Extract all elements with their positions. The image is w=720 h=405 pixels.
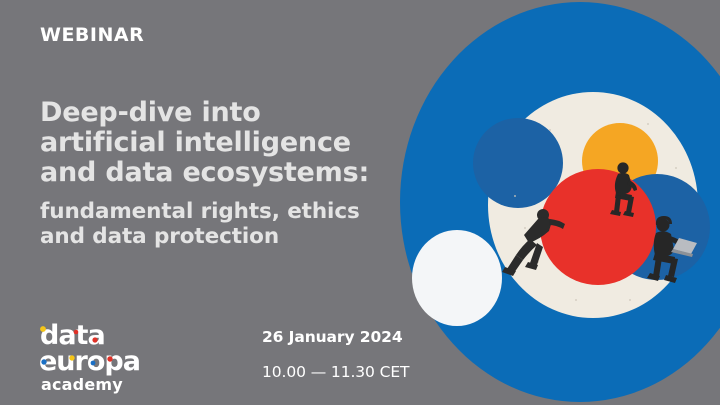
data-europa-academy-logo[interactable]: data europa academy bbox=[38, 318, 168, 396]
event-date: 26 January 2024 bbox=[262, 328, 442, 346]
logo-dot-red-1 bbox=[74, 330, 79, 335]
title-line-1: Deep-dive into bbox=[40, 97, 261, 128]
title-line-3: and data ecosystems: bbox=[40, 157, 369, 188]
subtitle-line-2: and data protection bbox=[40, 224, 279, 249]
webinar-promo-banner: WEBINAR Deep-dive into artificial intell… bbox=[0, 0, 720, 405]
logo-dot-red-3 bbox=[107, 356, 112, 361]
logo-dot-blue-2 bbox=[91, 361, 96, 366]
white-circle bbox=[412, 230, 502, 326]
subtitle-line-1: fundamental rights, ethics bbox=[40, 199, 360, 224]
eyebrow-label: WEBINAR bbox=[40, 24, 144, 46]
logo-dot-yellow-1 bbox=[40, 326, 46, 332]
event-details: 26 January 2024 10.00 — 11.30 CET bbox=[262, 328, 442, 381]
page-title: Deep-dive into artificial intelligence a… bbox=[40, 98, 390, 188]
logo-dot-yellow-2 bbox=[69, 355, 74, 360]
event-time: 10.00 — 11.30 CET bbox=[262, 363, 442, 381]
logo-word-academy: academy bbox=[41, 375, 123, 394]
title-line-2: artificial intelligence bbox=[40, 127, 351, 158]
logo-word-europa: europa bbox=[39, 346, 140, 377]
logo-dot-red-2 bbox=[92, 337, 97, 342]
page-subtitle: fundamental rights, ethics and data prot… bbox=[40, 199, 390, 249]
logo-dot-blue-1 bbox=[41, 359, 46, 364]
red-circle bbox=[540, 169, 656, 285]
dark-blue-circle bbox=[473, 118, 563, 208]
title-block: Deep-dive into artificial intelligence a… bbox=[40, 98, 390, 249]
